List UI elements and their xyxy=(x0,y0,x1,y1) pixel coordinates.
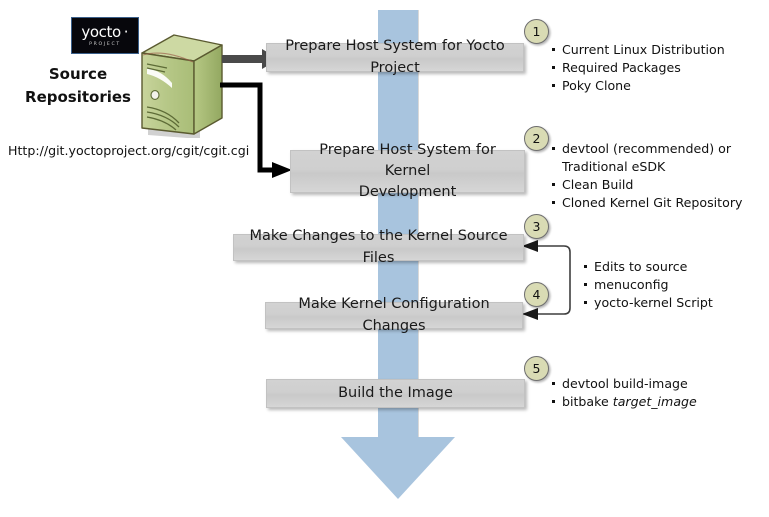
bullet-item: bitbake target_image xyxy=(551,393,751,411)
bullet-text: bitbake xyxy=(562,394,613,409)
source-repository-url: Http://git.yoctoproject.org/cgit/cgit.cg… xyxy=(8,143,249,158)
step-3-label: Make Changes to the Kernel Source Files xyxy=(242,226,515,268)
step-5-number-badge: 5 xyxy=(524,356,549,381)
step-5-label: Build the Image xyxy=(338,383,453,404)
step-1-number: 1 xyxy=(533,24,541,39)
bullet-item: devtool build-image xyxy=(551,375,751,393)
step-4-number: 4 xyxy=(533,287,541,302)
logo-wordmark: yocto xyxy=(81,25,120,40)
bullet-item: Current Linux Distribution xyxy=(551,41,751,59)
step-2-bullet-list: devtool (recommended) or Traditional eSD… xyxy=(551,140,761,212)
step-1-box[interactable]: Prepare Host System for Yocto Project xyxy=(266,43,524,72)
step-3-number-badge: 3 xyxy=(524,214,549,239)
step-4-box[interactable]: Make Kernel Configuration Changes xyxy=(265,302,523,329)
logo-subtitle: PROJECT xyxy=(89,43,121,48)
bullet-italic-variable: target_image xyxy=(613,394,697,409)
bullet-item: Clean Build xyxy=(551,176,761,194)
step-2-label: Prepare Host System for Kernel Developme… xyxy=(299,140,516,203)
step-5-box[interactable]: Build the Image xyxy=(266,379,525,408)
bullet-item: Edits to source xyxy=(583,258,763,276)
workflow-diagram: yocto · PROJECT xyxy=(0,0,769,517)
step-1-number-badge: 1 xyxy=(524,19,549,44)
step-3-number: 3 xyxy=(533,219,541,234)
source-repositories-label: Source Repositories xyxy=(20,63,136,108)
step-4-label: Make Kernel Configuration Changes xyxy=(274,294,514,336)
yocto-project-logo: yocto · PROJECT xyxy=(71,17,139,54)
bullet-item: yocto-kernel Script xyxy=(583,294,763,312)
bullet-item: menuconfig xyxy=(583,276,763,294)
logo-dot: · xyxy=(124,23,129,41)
step-2-box[interactable]: Prepare Host System for Kernel Developme… xyxy=(290,150,525,193)
connector-bracket-steps3-4 xyxy=(520,238,582,322)
connector-server-to-step2 xyxy=(218,80,298,178)
bullet-item: devtool (recommended) or Traditional eSD… xyxy=(551,140,761,176)
flow-arrow-head xyxy=(341,437,455,499)
steps-3-4-bullet-list: Edits to source menuconfig yocto-kernel … xyxy=(583,258,763,312)
step-5-number: 5 xyxy=(533,361,541,376)
bullet-item: Cloned Kernel Git Repository xyxy=(551,194,761,212)
step-2-number: 2 xyxy=(533,131,541,146)
step-3-box[interactable]: Make Changes to the Kernel Source Files xyxy=(233,234,524,261)
source-repository-server-icon xyxy=(134,31,226,138)
bullet-item: Poky Clone xyxy=(551,77,751,95)
step-4-number-badge: 4 xyxy=(524,282,549,307)
step-1-bullet-list: Current Linux Distribution Required Pack… xyxy=(551,41,751,95)
step-2-number-badge: 2 xyxy=(524,126,549,151)
bullet-item: Required Packages xyxy=(551,59,751,77)
step-5-bullet-list: devtool build-image bitbake target_image xyxy=(551,375,751,411)
step-1-label: Prepare Host System for Yocto Project xyxy=(275,36,515,78)
